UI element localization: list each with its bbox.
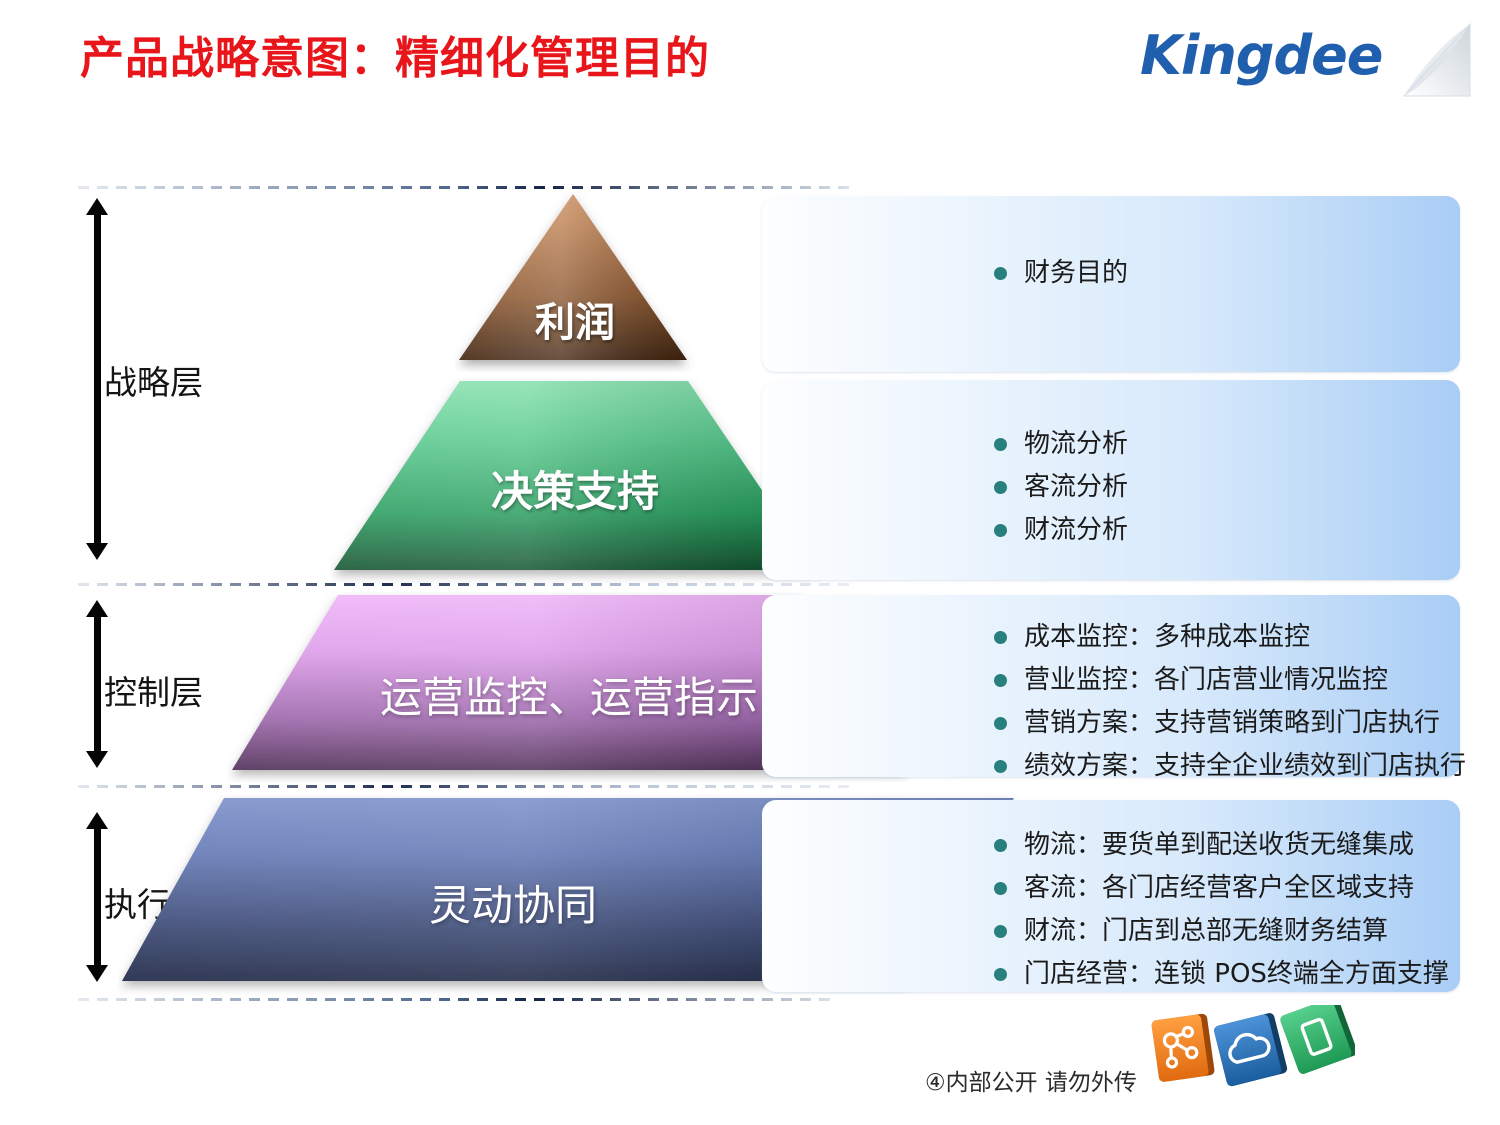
mobile-cube-icon	[1279, 1005, 1355, 1075]
bullet-dot-icon	[994, 760, 1007, 773]
bullet-label: 成本监控：多种成本监控	[1024, 620, 1310, 656]
bullet-dot-icon	[994, 968, 1007, 981]
bullet-list: 成本监控：多种成本监控 营业监控：各门店营业情况监控 营销方案：支持营销策略到门…	[994, 620, 1454, 792]
bullet-dot-icon	[994, 882, 1007, 895]
info-panel-financial: 财务目的	[762, 196, 1460, 372]
bullet-label: 绩效方案：支持全企业绩效到门店执行	[1024, 749, 1466, 785]
list-item: 物流：要货单到配送收货无缝集成	[994, 828, 1454, 864]
list-item: 客流分析	[994, 470, 1454, 506]
list-item: 绩效方案：支持全企业绩效到门店执行	[994, 749, 1454, 785]
bullet-label: 财务目的	[1024, 256, 1128, 292]
page-curl-icon	[1394, 22, 1472, 98]
list-item: 财流分析	[994, 513, 1454, 549]
bullet-list: 物流：要货单到配送收货无缝集成 客流：各门店经营客户全区域支持 财流：门店到总部…	[994, 828, 1454, 1000]
bullet-label: 门店经营：连锁 POS终端全方面支撑	[1024, 957, 1449, 993]
bullet-label: 营业监控：各门店营业情况监控	[1024, 663, 1388, 699]
confidentiality-note: ④内部公开 请勿外传	[925, 1063, 1137, 1097]
bullet-dot-icon	[994, 481, 1007, 494]
list-item: 营业监控：各门店营业情况监控	[994, 663, 1454, 699]
bullet-label: 客流：各门店经营客户全区域支持	[1024, 871, 1414, 907]
list-item: 财流：门店到总部无缝财务结算	[994, 914, 1454, 950]
bullet-label: 物流：要货单到配送收货无缝集成	[1024, 828, 1414, 864]
bullet-label: 客流分析	[1024, 470, 1128, 506]
list-item: 门店经营：连锁 POS终端全方面支撑	[994, 957, 1454, 993]
bullet-label: 物流分析	[1024, 427, 1128, 463]
bullet-dot-icon	[994, 674, 1007, 687]
bullet-label: 财流：门店到总部无缝财务结算	[1024, 914, 1388, 950]
list-item: 财务目的	[994, 256, 1454, 292]
info-panel-control: 成本监控：多种成本监控 营业监控：各门店营业情况监控 营销方案：支持营销策略到门…	[762, 595, 1460, 777]
bullet-dot-icon	[994, 631, 1007, 644]
info-panel-execution: 物流：要货单到配送收货无缝集成 客流：各门店经营客户全区域支持 财流：门店到总部…	[762, 800, 1460, 992]
bullet-dot-icon	[994, 267, 1007, 280]
list-item: 成本监控：多种成本监控	[994, 620, 1454, 656]
list-item: 营销方案：支持营销策略到门店执行	[994, 706, 1454, 742]
bullet-label: 营销方案：支持营销策略到门店执行	[1024, 706, 1440, 742]
network-cube-icon	[1151, 1013, 1215, 1082]
pyramid-level-decision[interactable]	[330, 378, 820, 583]
info-panel-analysis: 物流分析 客流分析 财流分析	[762, 380, 1460, 580]
bullet-dot-icon	[994, 438, 1007, 451]
logo-wordmark: Kingdee	[1140, 24, 1382, 87]
bullet-dot-icon	[994, 524, 1007, 537]
list-item: 客流：各门店经营客户全区域支持	[994, 871, 1454, 907]
kingdee-logo: Kingdee	[1140, 16, 1480, 98]
bullet-dot-icon	[994, 925, 1007, 938]
bullet-list: 财务目的	[994, 256, 1454, 299]
bullet-list: 物流分析 客流分析 财流分析	[994, 427, 1454, 556]
bullet-dot-icon	[994, 717, 1007, 730]
bullet-dot-icon	[994, 839, 1007, 852]
pyramid-level-profit[interactable]	[455, 190, 695, 372]
bullet-label: 财流分析	[1024, 513, 1128, 549]
cloud-cube-icon	[1213, 1012, 1288, 1087]
list-item: 物流分析	[994, 427, 1454, 463]
cloud-product-icons	[1145, 1005, 1355, 1115]
